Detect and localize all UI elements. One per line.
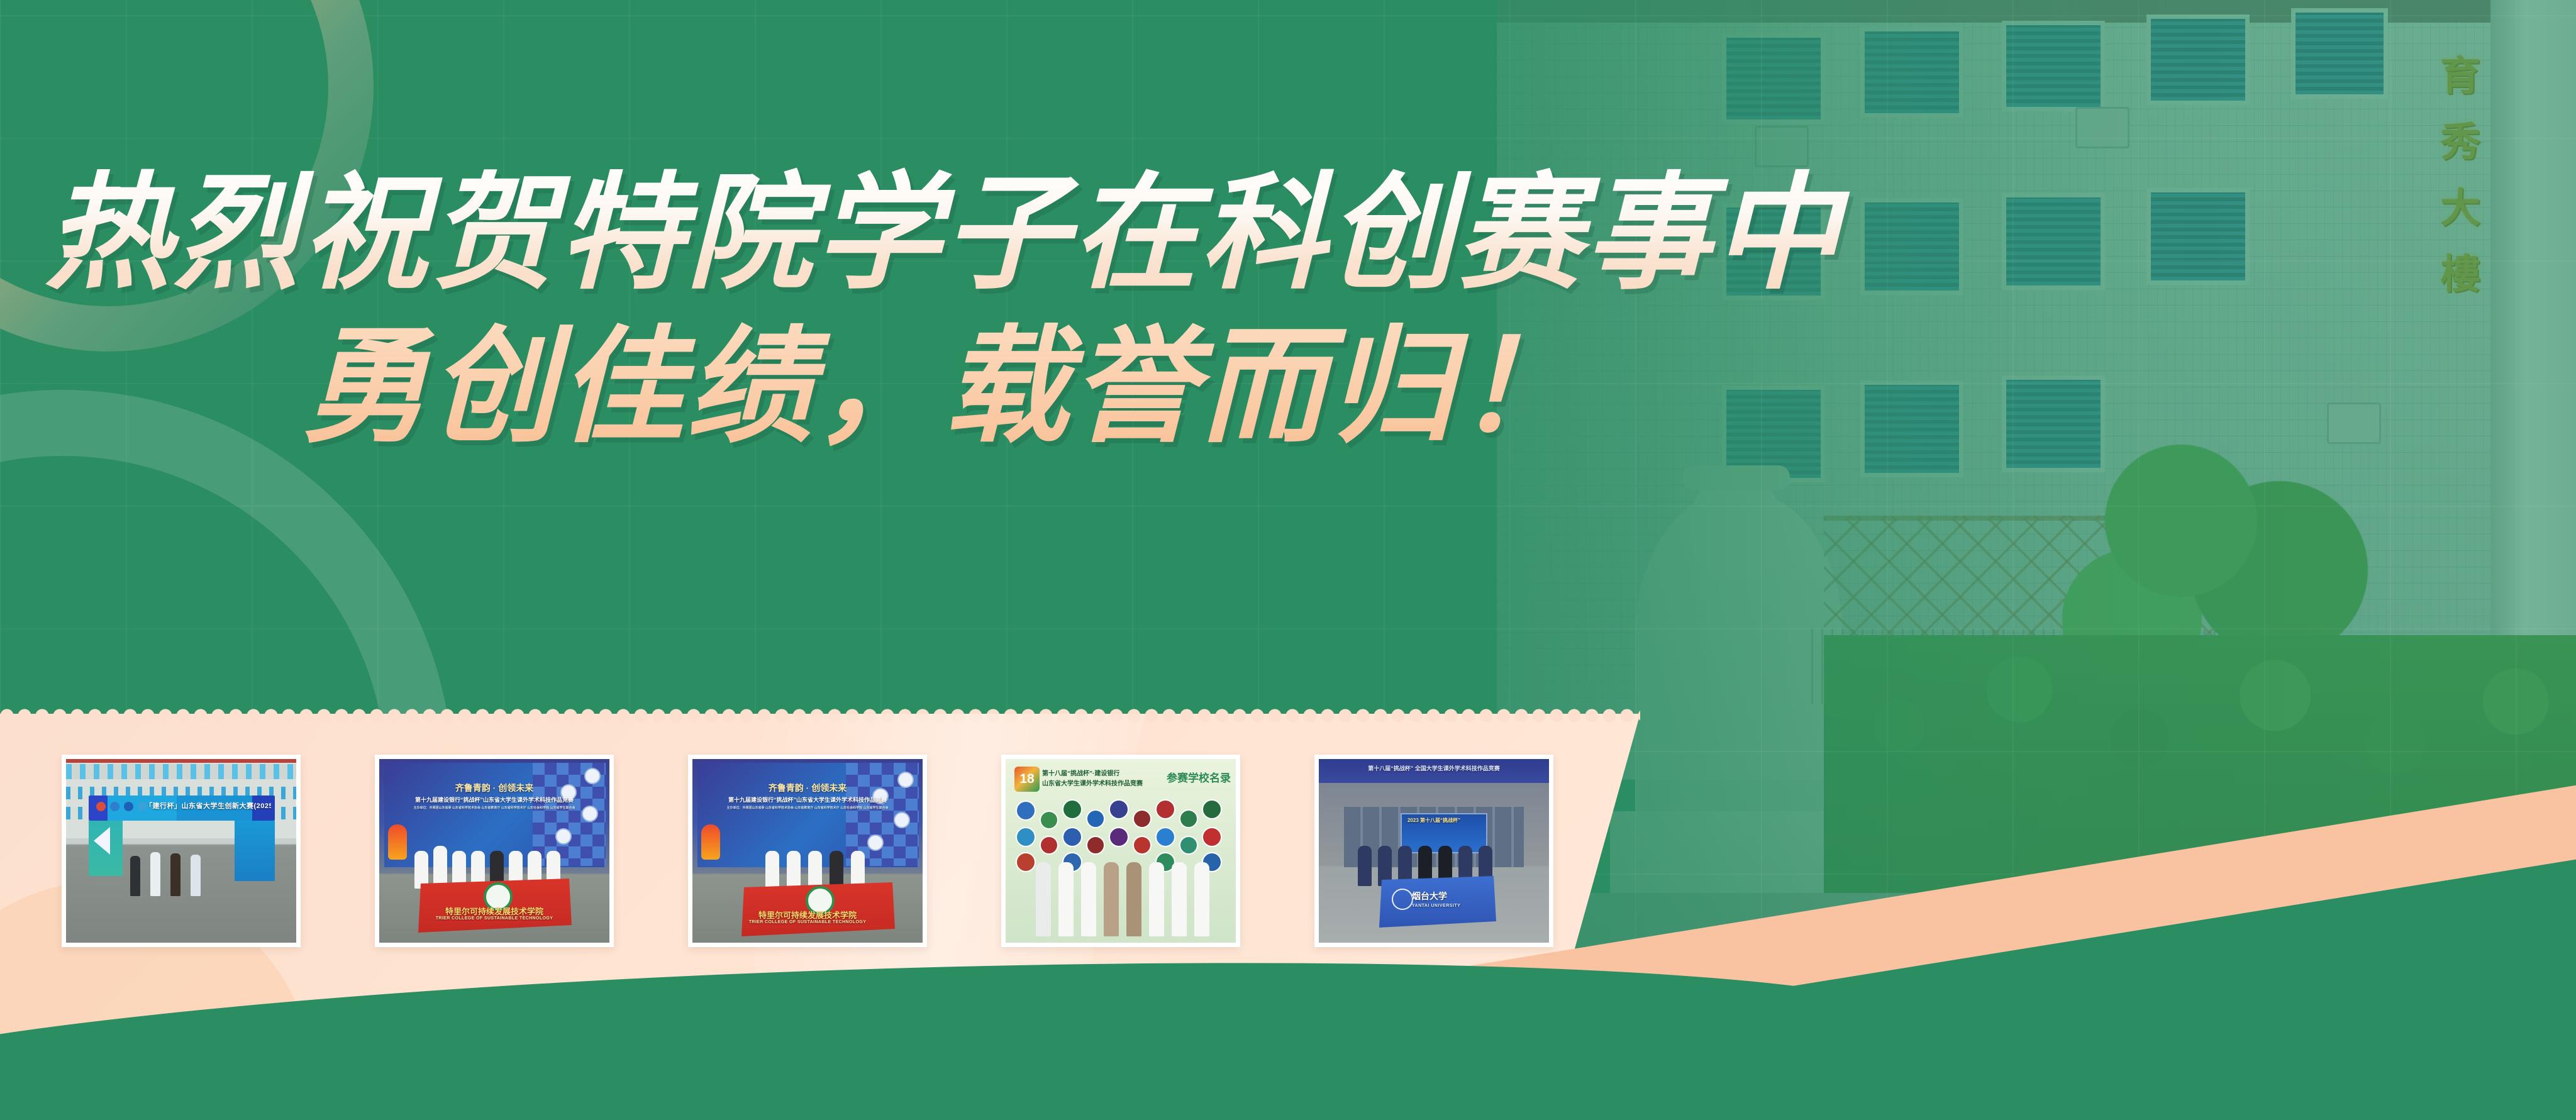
photo4-seal — [1179, 836, 1198, 855]
photo4-seal — [1155, 799, 1175, 819]
photo-card[interactable]: 「建行杯」山东省大学生创新大赛(2025) — [62, 755, 301, 947]
photo4-seal — [1155, 827, 1175, 847]
photo3-person — [765, 851, 779, 889]
photo3-school-seal — [894, 812, 910, 828]
photo1-logo-dot — [124, 802, 133, 811]
photo4-seal — [1086, 809, 1105, 828]
photo3-flag-text-cn: 特里尔可持续发展技术学院 — [692, 909, 923, 921]
photo2-mascot — [388, 824, 407, 860]
photo4-seal — [1086, 836, 1105, 855]
photo5-university-emblem — [1392, 889, 1413, 910]
photo4-seal — [1062, 827, 1082, 847]
photo3-person — [808, 851, 822, 889]
photo2-flag-text-en: TRIER COLLEGE OF SUSTAINABLE TECHNOLOGY — [379, 916, 609, 921]
photo3-person — [830, 851, 843, 889]
photo3-people-group — [765, 843, 891, 889]
photo4-seal — [1202, 799, 1222, 819]
photo2-flag-text-cn: 特里尔可持续发展技术学院 — [379, 905, 609, 917]
photo2-backdrop-organizers: 主办单位：共青团山东省委 山东省科学技术协会 山东省教育厅 山东省科学技术厅 山… — [379, 806, 609, 810]
photo1-person — [170, 853, 180, 896]
photo4-person — [1081, 862, 1096, 936]
photo-card[interactable]: 齐鲁青韵 · 创领未来 第十九届建设银行“挑战杯”山东省大学生课外学术科技作品竞… — [375, 755, 614, 947]
photo-card[interactable]: 18 第十八届“挑战杯”·建设银行 山东省大学生课外学术科技作品竞赛 参赛学校名… — [1001, 755, 1240, 947]
photo4-seal — [1040, 811, 1058, 829]
photo5-venue-banner-text: 第十八届“挑战杯” 全国大学生课外学术科技作品竞赛 — [1319, 764, 1549, 772]
photo4-person — [1036, 862, 1051, 936]
photo3-flag-text-en: TRIER COLLEGE OF SUSTAINABLE TECHNOLOGY — [692, 920, 923, 924]
photo4-person — [1149, 862, 1164, 936]
photo3-backdrop-subtitle: 第十九届建设银行“挑战杯”山东省大学生课外学术科技作品竞赛 — [692, 796, 923, 804]
photo5-flag-text-en: YANTAI UNIVERSITY — [1412, 904, 1500, 908]
photo4-wall-heading: 参赛学校名录 — [1167, 769, 1233, 785]
photo3-backdrop-organizers: 主办单位：共青团山东省委 山东省科学技术协会 山东省教育厅 山东省科学技术厅 山… — [692, 806, 923, 810]
photo2-school-seal — [555, 828, 572, 845]
photo3-backdrop-title: 齐鲁青韵 · 创领未来 — [692, 782, 923, 794]
photo2-person — [433, 846, 447, 889]
photo2-backdrop-title: 齐鲁青韵 · 创领未来 — [379, 782, 609, 794]
photo-school-directory-wall: 18 第十八届“挑战杯”·建设银行 山东省大学生课外学术科技作品竞赛 参赛学校名… — [1006, 759, 1236, 943]
photo1-chevron-icon — [94, 827, 110, 855]
photo5-screen-text: 2023 第十八届“挑战杯” — [1319, 817, 1549, 824]
photo4-wall-title-2: 山东省大学生课外学术科技作品竞赛 — [1042, 778, 1187, 787]
photo3-person — [787, 851, 801, 889]
photo4-seal — [1109, 799, 1129, 819]
photo-group-red-flag-1: 齐鲁青韵 · 创领未来 第十九届建设银行“挑战杯”山东省大学生课外学术科技作品竞… — [379, 759, 609, 943]
photo-thumbnail-strip: 「建行杯」山东省大学生创新大赛(2025) 齐鲁青韵 · 创领未来 第十九届 — [62, 755, 1553, 947]
photo1-people-group — [128, 848, 209, 896]
photo1-person — [150, 852, 160, 896]
photo-group-red-flag-2: 齐鲁青韵 · 创领未来 第十九届建设银行“挑战杯”山东省大学生课外学术科技作品竞… — [692, 759, 923, 943]
photo-card[interactable]: 齐鲁青韵 · 创领未来 第十九届建设银行“挑战杯”山东省大学生课外学术科技作品竞… — [688, 755, 927, 947]
photo4-seal — [1016, 852, 1036, 872]
photo4-person — [1104, 862, 1119, 936]
photo4-person — [1194, 862, 1209, 936]
photo4-people-group — [1036, 855, 1209, 936]
photo4-edition-badge: 18 — [1014, 767, 1040, 792]
photo5-flag-text-cn: 烟台大学 — [1412, 890, 1500, 902]
photo-arch-ceremony: 「建行杯」山东省大学生创新大赛(2025) — [66, 759, 296, 943]
photo4-seal — [1016, 801, 1036, 821]
photo3-person — [851, 851, 865, 889]
photo3-mascot — [701, 824, 720, 860]
photo4-person — [1172, 862, 1187, 936]
photo4-seal — [1016, 827, 1036, 847]
photo4-person — [1126, 862, 1141, 936]
photo1-person — [191, 855, 201, 896]
banner-stage: 育 秀 大 樓 热烈祝贺特院学子在科创赛事中 勇创佳绩，载誉而归！ — [0, 0, 2576, 1120]
photo4-seal — [1062, 799, 1082, 819]
photo1-arch-title: 「建行杯」山东省大学生创新大赛(2025) — [145, 801, 271, 811]
photo1-person — [130, 856, 140, 896]
photo4-seal — [1133, 809, 1152, 828]
photo4-seal — [1179, 809, 1198, 828]
photo4-seal — [1133, 836, 1152, 855]
panel-scalloped-edge — [0, 709, 1640, 723]
photo4-seal — [1109, 827, 1129, 847]
photo1-logo-dot — [96, 802, 106, 811]
photo-card[interactable]: 第十八届“挑战杯” 全国大学生课外学术科技作品竞赛 2023 第十八届“挑战杯”… — [1314, 755, 1553, 947]
photo4-person — [1058, 862, 1074, 936]
photo2-person — [414, 851, 428, 889]
photo1-logo-dot — [110, 802, 119, 811]
photo5-person — [1358, 846, 1372, 886]
photo2-backdrop-subtitle: 第十九届建设银行“挑战杯”山东省大学生课外学术科技作品竞赛 — [379, 796, 609, 804]
photo4-seal — [1202, 827, 1222, 847]
photo4-seal — [1040, 836, 1058, 855]
photo-yantai-university-flag: 第十八届“挑战杯” 全国大学生课外学术科技作品竞赛 2023 第十八届“挑战杯”… — [1319, 759, 1549, 943]
photo4-wall-title-1: 第十八届“挑战杯”·建设银行 — [1042, 768, 1187, 777]
